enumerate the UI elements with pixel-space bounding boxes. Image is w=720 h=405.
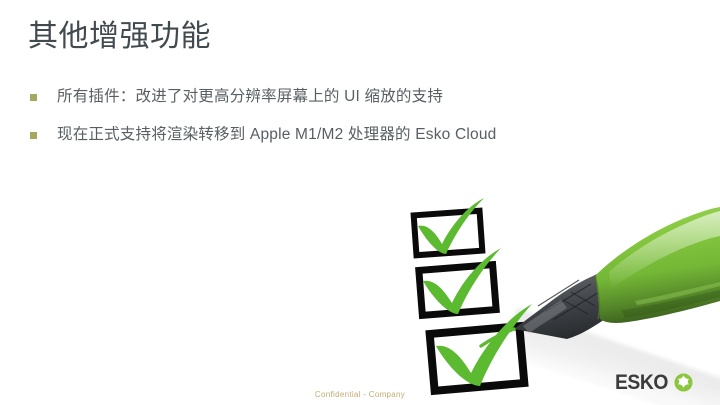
esko-wordmark: ESKO <box>615 371 668 395</box>
list-item-label: 所有插件：改进了对更高分辨率屏幕上的 UI 缩放的支持 <box>57 84 443 110</box>
esko-star-icon <box>674 373 693 392</box>
esko-logo: ESKO <box>615 369 693 396</box>
square-bullet-icon <box>30 94 37 101</box>
list-item: 所有插件：改进了对更高分辨率屏幕上的 UI 缩放的支持 <box>30 84 670 112</box>
list-item-label: 现在正式支持将渲染转移到 Apple M1/M2 处理器的 Esko Cloud <box>57 122 497 148</box>
page-title: 其他增强功能 <box>28 17 211 57</box>
list-item: 现在正式支持将渲染转移到 Apple M1/M2 处理器的 Esko Cloud <box>30 122 670 150</box>
footer-confidentiality-label: Confidential - Company <box>0 390 720 399</box>
square-bullet-icon <box>30 132 37 139</box>
bullet-list: 所有插件：改进了对更高分辨率屏幕上的 UI 缩放的支持 现在正式支持将渲染转移到… <box>30 84 670 160</box>
slide-canvas: 其他增强功能 所有插件：改进了对更高分辨率屏幕上的 UI 缩放的支持 现在正式支… <box>0 0 720 405</box>
